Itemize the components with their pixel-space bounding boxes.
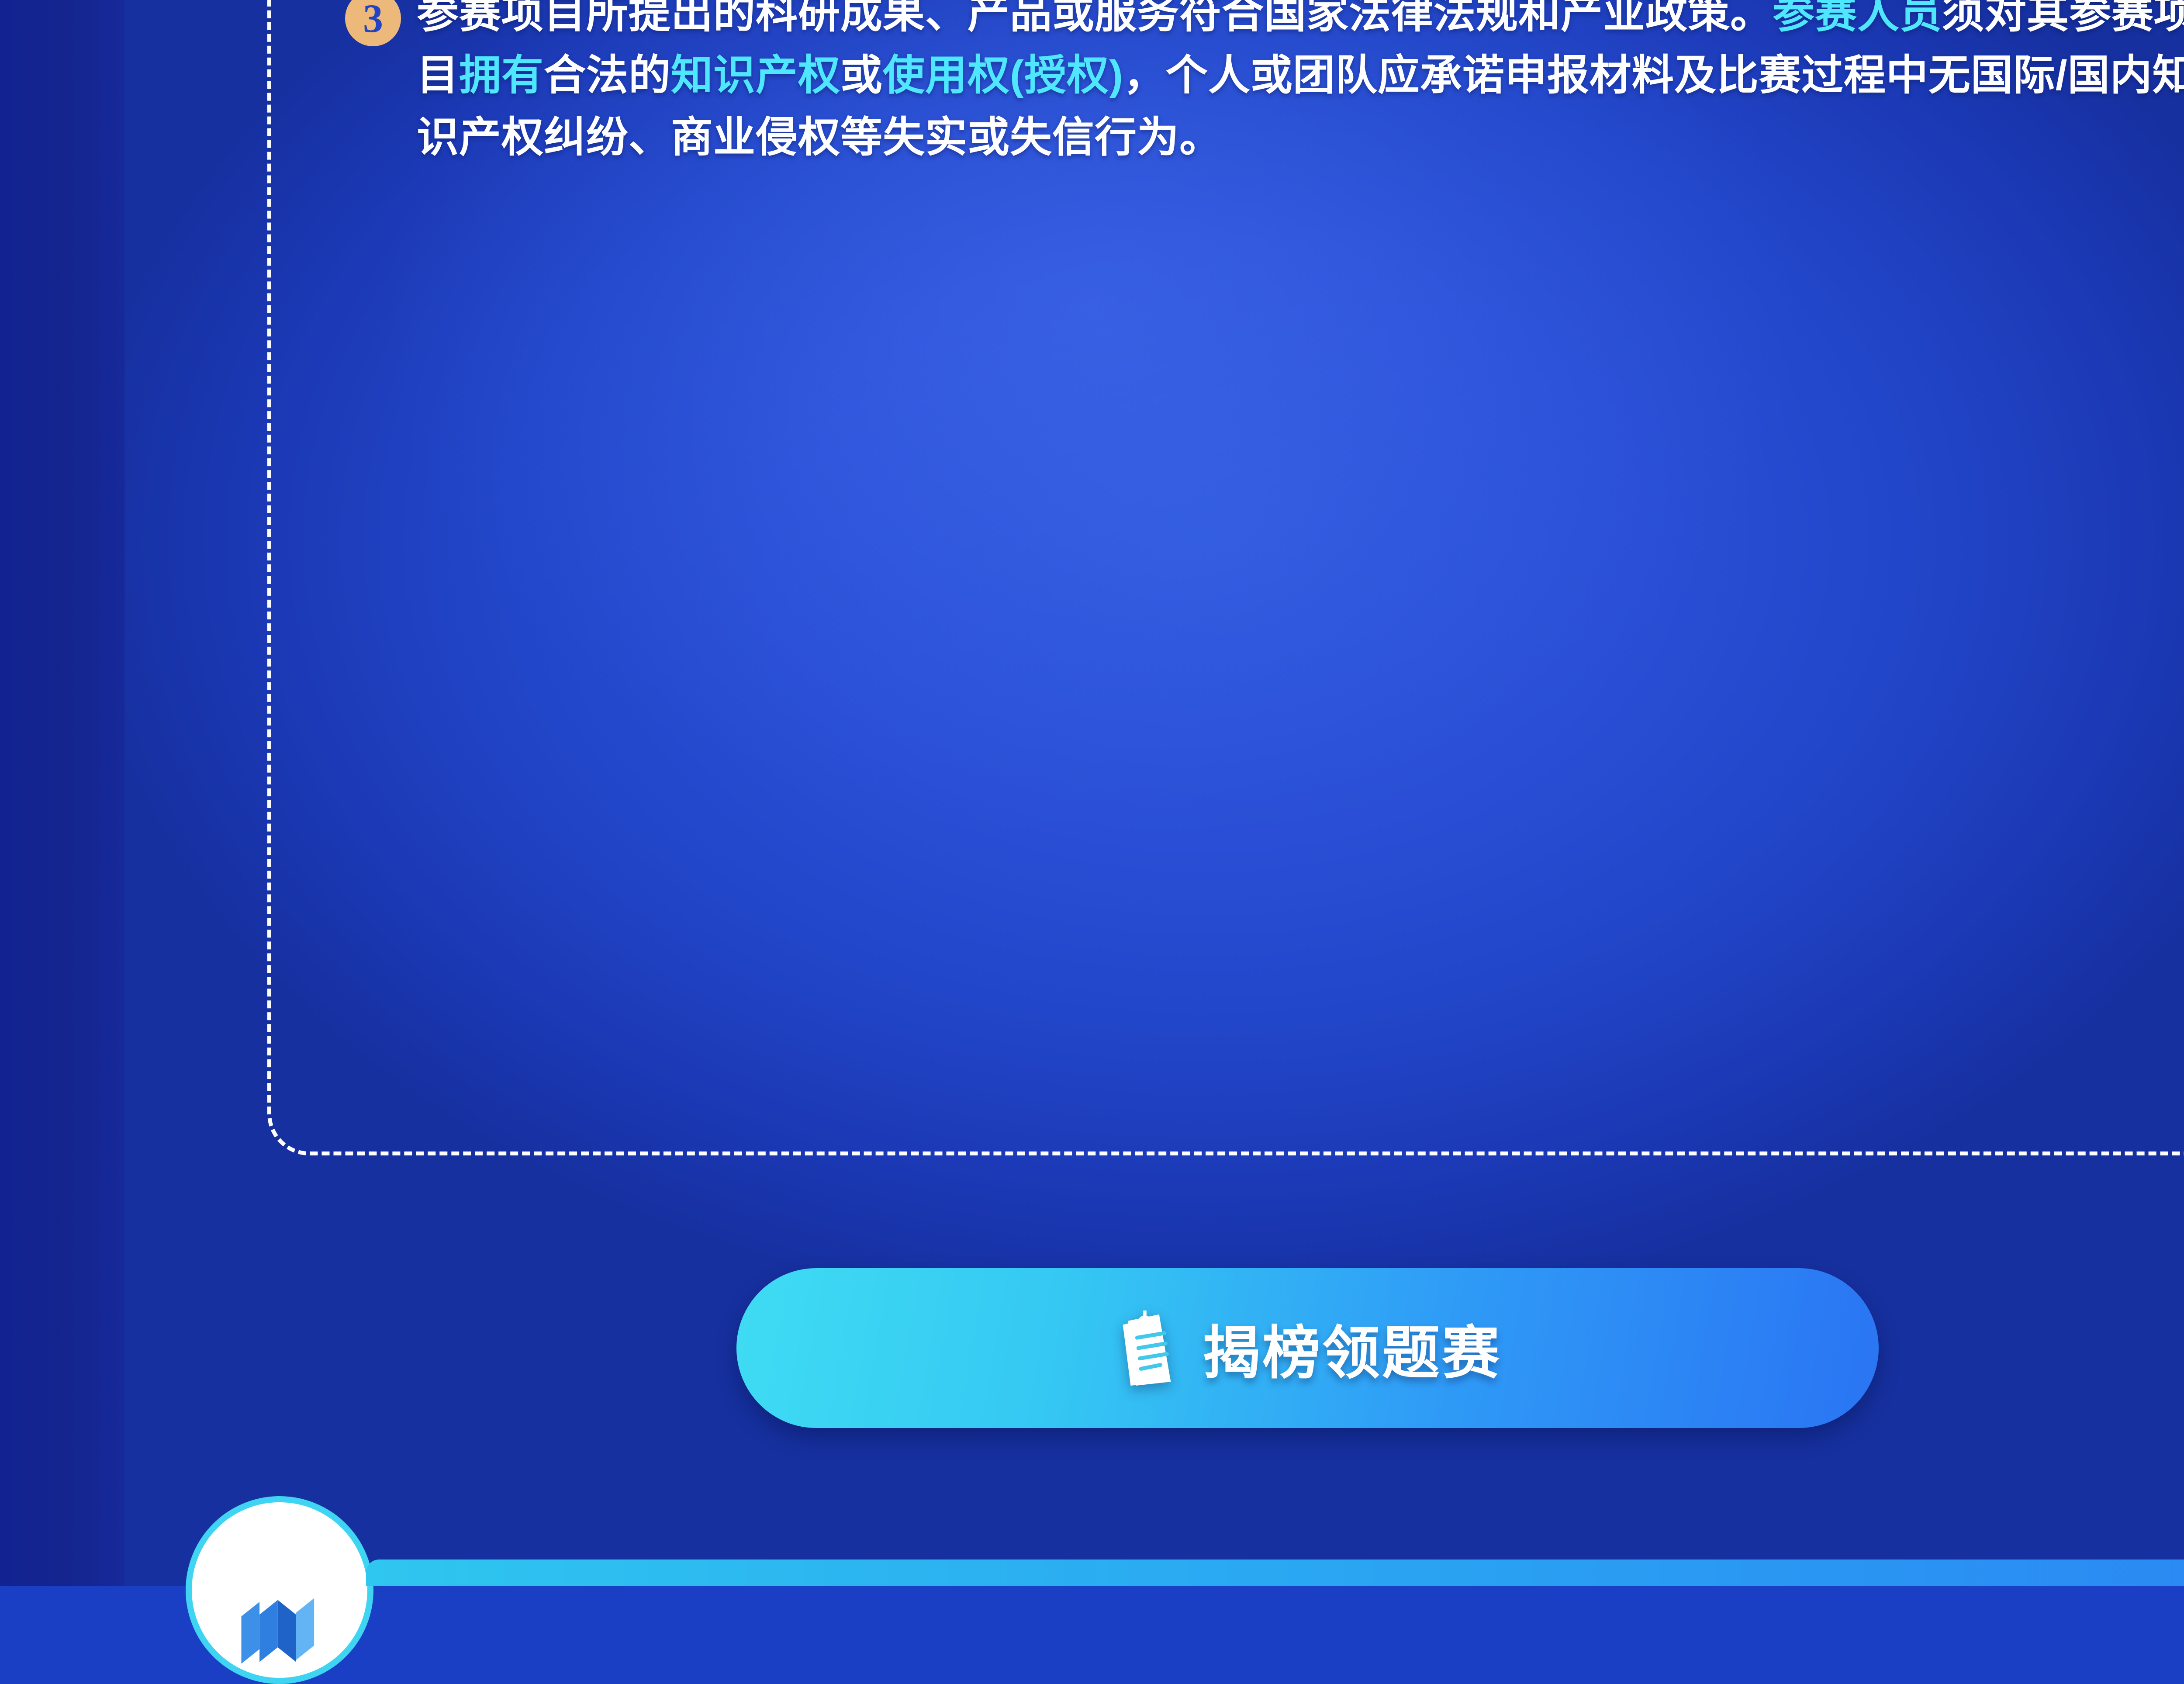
jiebang-lingti-competition-button[interactable]: 揭榜领题赛 xyxy=(736,1268,1879,1428)
plain-text-run: 合法的 xyxy=(544,52,671,99)
highlighted-text-run: 使用权(授权) xyxy=(883,52,1123,99)
books-stack-icon xyxy=(225,1560,334,1669)
eligibility-rules-list: 1 注册参赛人员应为项目技术研发负责人或项目开发团队的核心成员，具有海外（境外）… xyxy=(345,0,2184,193)
bottom-circle-badge xyxy=(186,1496,373,1684)
bottom-accent-bar xyxy=(366,1560,2184,1586)
clipboard-list-icon xyxy=(1113,1309,1179,1387)
rule-number-badge: 3 xyxy=(345,0,401,46)
highlighted-text-run: 拥有 xyxy=(459,52,544,99)
left-edge-gradient xyxy=(0,0,124,1586)
rule-item: 3 参赛项目所提出的科研成果、产品或服务符合国家法律法规和产业政策。参赛人员须对… xyxy=(345,0,2184,169)
cta-button-label: 揭榜领题赛 xyxy=(1203,1307,1502,1390)
plain-text-run: 参赛项目所提出的科研成果、产品或服务符合国家法律法规和产业政策。 xyxy=(417,0,1773,37)
highlighted-text-run: 知识产权 xyxy=(671,52,840,99)
rule-text: 参赛项目所提出的科研成果、产品或服务符合国家法律法规和产业政策。参赛人员须对其参… xyxy=(417,0,2184,169)
highlighted-text-run: 参赛人员 xyxy=(1773,0,1942,37)
plain-text-run: 或 xyxy=(840,52,883,99)
